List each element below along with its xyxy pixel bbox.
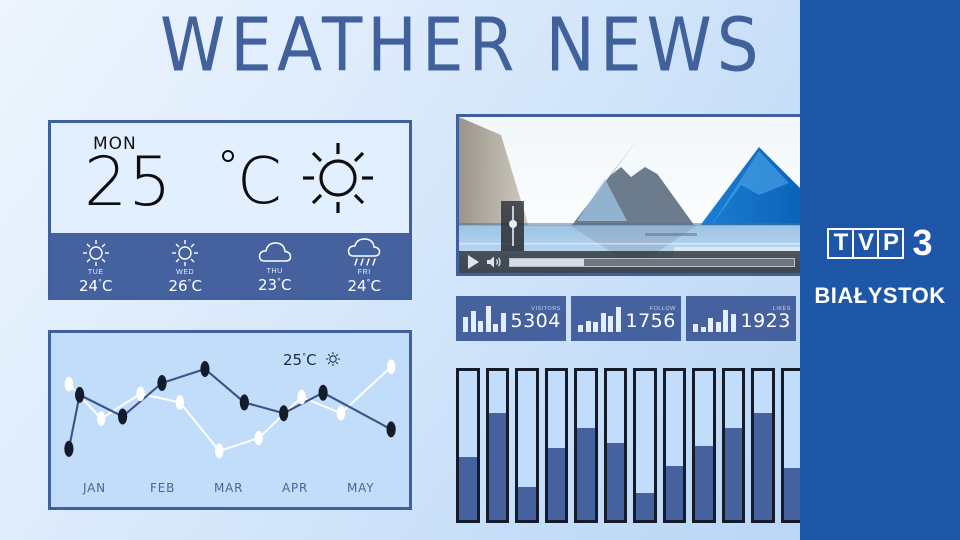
stat-card-visitors[interactable]: VISITORS 5304 bbox=[456, 296, 566, 341]
gauge-bar bbox=[633, 368, 657, 523]
mini-bar bbox=[471, 311, 476, 331]
gauge-fill bbox=[725, 428, 743, 520]
video-player[interactable] bbox=[456, 114, 804, 276]
gauge-fill bbox=[548, 448, 566, 520]
gauge-bar-chart bbox=[456, 368, 804, 523]
gauge-bar bbox=[663, 368, 687, 523]
forecast-temp: 23°C bbox=[258, 276, 292, 294]
sun-icon bbox=[81, 238, 111, 268]
stat-value: 5304 bbox=[511, 312, 561, 332]
mini-bar bbox=[701, 327, 706, 332]
video-progress-bar[interactable] bbox=[509, 258, 795, 267]
tvp-letter-p: P bbox=[877, 228, 904, 259]
volume-slider-thumb[interactable] bbox=[509, 220, 517, 228]
sun-icon bbox=[299, 139, 377, 217]
forecast-day-label: TUE bbox=[88, 269, 104, 276]
forecast-temp-unit: C bbox=[102, 277, 112, 295]
visitors-mini-bar-chart bbox=[463, 306, 506, 332]
stat-card-likes[interactable]: LIKES 1923 bbox=[686, 296, 796, 341]
tvp-letter-v: V bbox=[852, 228, 879, 259]
forecast-temp-unit: C bbox=[192, 277, 202, 295]
x-axis-tick-feb: FEB bbox=[150, 481, 175, 495]
likes-text: LIKES 1923 bbox=[741, 306, 791, 332]
x-axis-tick-apr: APR bbox=[282, 481, 308, 495]
gauge-fill bbox=[577, 428, 595, 520]
mini-bar bbox=[708, 318, 713, 332]
gauge-bar bbox=[545, 368, 569, 523]
gauge-fill bbox=[489, 413, 507, 520]
gauge-fill bbox=[518, 487, 536, 520]
mini-bar bbox=[608, 316, 613, 331]
gauge-fill bbox=[784, 468, 802, 520]
weather-card: MON 25 C TUE 24°C bbox=[48, 120, 412, 300]
tvp-logo: TVP 3 bbox=[800, 225, 960, 261]
x-axis-tick-may: MAY bbox=[347, 481, 374, 495]
forecast-temp: 24°C bbox=[79, 277, 113, 295]
forecast-day-fri[interactable]: FRI 24°C bbox=[320, 233, 410, 297]
forecast-temp-value: 23 bbox=[258, 276, 277, 294]
play-icon[interactable] bbox=[468, 255, 479, 269]
sun-icon bbox=[170, 238, 200, 268]
gauge-fill bbox=[636, 493, 654, 520]
gauge-fill bbox=[459, 457, 477, 520]
forecast-temp: 24°C bbox=[347, 277, 381, 295]
mini-bar bbox=[731, 314, 736, 331]
gauge-bar bbox=[722, 368, 746, 523]
mini-bar bbox=[723, 310, 728, 331]
gauge-bar bbox=[574, 368, 598, 523]
mini-bar bbox=[478, 321, 483, 332]
video-progress-fill bbox=[510, 259, 584, 266]
gauge-fill bbox=[695, 446, 713, 521]
forecast-temp-unit: C bbox=[371, 277, 381, 295]
mini-bar bbox=[716, 322, 721, 332]
forecast-temp-value: 26 bbox=[168, 277, 187, 295]
forecast-day-thu[interactable]: THU 23°C bbox=[230, 233, 320, 297]
temperature-unit: C bbox=[237, 145, 282, 219]
forecast-day-label: FRI bbox=[358, 269, 371, 276]
station-city: BIAŁYSTOK bbox=[800, 283, 960, 309]
video-controls-bar bbox=[459, 251, 801, 273]
mini-bar bbox=[601, 313, 606, 331]
mini-bar bbox=[578, 325, 583, 331]
current-temperature: 25 bbox=[84, 143, 173, 222]
tvp-letter-t: T bbox=[827, 228, 854, 259]
stat-value: 1756 bbox=[626, 312, 676, 332]
rain-cloud-icon bbox=[347, 238, 381, 268]
broadcaster-panel: TVP 3 BIAŁYSTOK bbox=[800, 0, 960, 540]
current-weather: MON 25 C bbox=[51, 123, 409, 233]
forecast-day-tue[interactable]: TUE 24°C bbox=[51, 233, 141, 297]
forecast-day-label: WED bbox=[176, 269, 194, 276]
gauge-bar bbox=[604, 368, 628, 523]
chart-temp-value: 25 bbox=[283, 351, 302, 369]
gauge-fill bbox=[666, 466, 684, 520]
forecast-row: TUE 24°C WED 26°C THU 23°C bbox=[51, 233, 409, 297]
degree-symbol-icon bbox=[222, 150, 234, 162]
gauge-fill bbox=[607, 443, 625, 520]
sun-icon bbox=[325, 351, 341, 367]
mini-bar bbox=[616, 307, 621, 332]
mini-bar bbox=[493, 324, 498, 332]
forecast-temp-unit: C bbox=[281, 276, 291, 294]
mini-bar bbox=[486, 306, 491, 332]
mini-bar bbox=[501, 313, 506, 332]
channel-number: 3 bbox=[912, 225, 932, 261]
stat-card-follow[interactable]: FOLLOW 1756 bbox=[571, 296, 681, 341]
gauge-bar bbox=[486, 368, 510, 523]
gauge-bar bbox=[751, 368, 775, 523]
follow-mini-bar-chart bbox=[578, 306, 621, 332]
page-title: WEATHER NEWS bbox=[160, 2, 764, 88]
chart-temp-unit: C bbox=[306, 351, 316, 369]
mini-bar bbox=[586, 321, 591, 331]
follow-text: FOLLOW 1756 bbox=[626, 306, 676, 332]
forecast-day-label: THU bbox=[267, 268, 283, 275]
forecast-temp: 26°C bbox=[168, 277, 202, 295]
forecast-day-wed[interactable]: WED 26°C bbox=[141, 233, 231, 297]
mini-bar bbox=[463, 317, 468, 331]
forecast-temp-value: 24 bbox=[79, 277, 98, 295]
mini-bar bbox=[693, 324, 698, 331]
gauge-bar bbox=[515, 368, 539, 523]
temperature-line-chart: 25°C JAN FEB MAR APR MAY bbox=[48, 330, 412, 510]
visitors-text: VISITORS 5304 bbox=[511, 306, 561, 332]
speaker-icon[interactable] bbox=[486, 255, 502, 269]
likes-mini-bar-chart bbox=[693, 306, 736, 332]
gauge-bar bbox=[692, 368, 716, 523]
x-axis-tick-jan: JAN bbox=[83, 481, 106, 495]
cloud-icon bbox=[258, 239, 292, 267]
gauge-fill bbox=[754, 413, 772, 520]
chart-temperature-label: 25°C bbox=[283, 351, 341, 369]
mini-bar bbox=[593, 322, 598, 331]
x-axis-tick-mar: MAR bbox=[214, 481, 243, 495]
stat-value: 1923 bbox=[741, 312, 791, 332]
speaker-glyph bbox=[486, 255, 502, 269]
gauge-bar bbox=[456, 368, 480, 523]
forecast-temp-value: 24 bbox=[347, 277, 366, 295]
tvp-letter-boxes: TVP bbox=[827, 228, 904, 259]
volume-slider-popup[interactable] bbox=[501, 201, 524, 251]
